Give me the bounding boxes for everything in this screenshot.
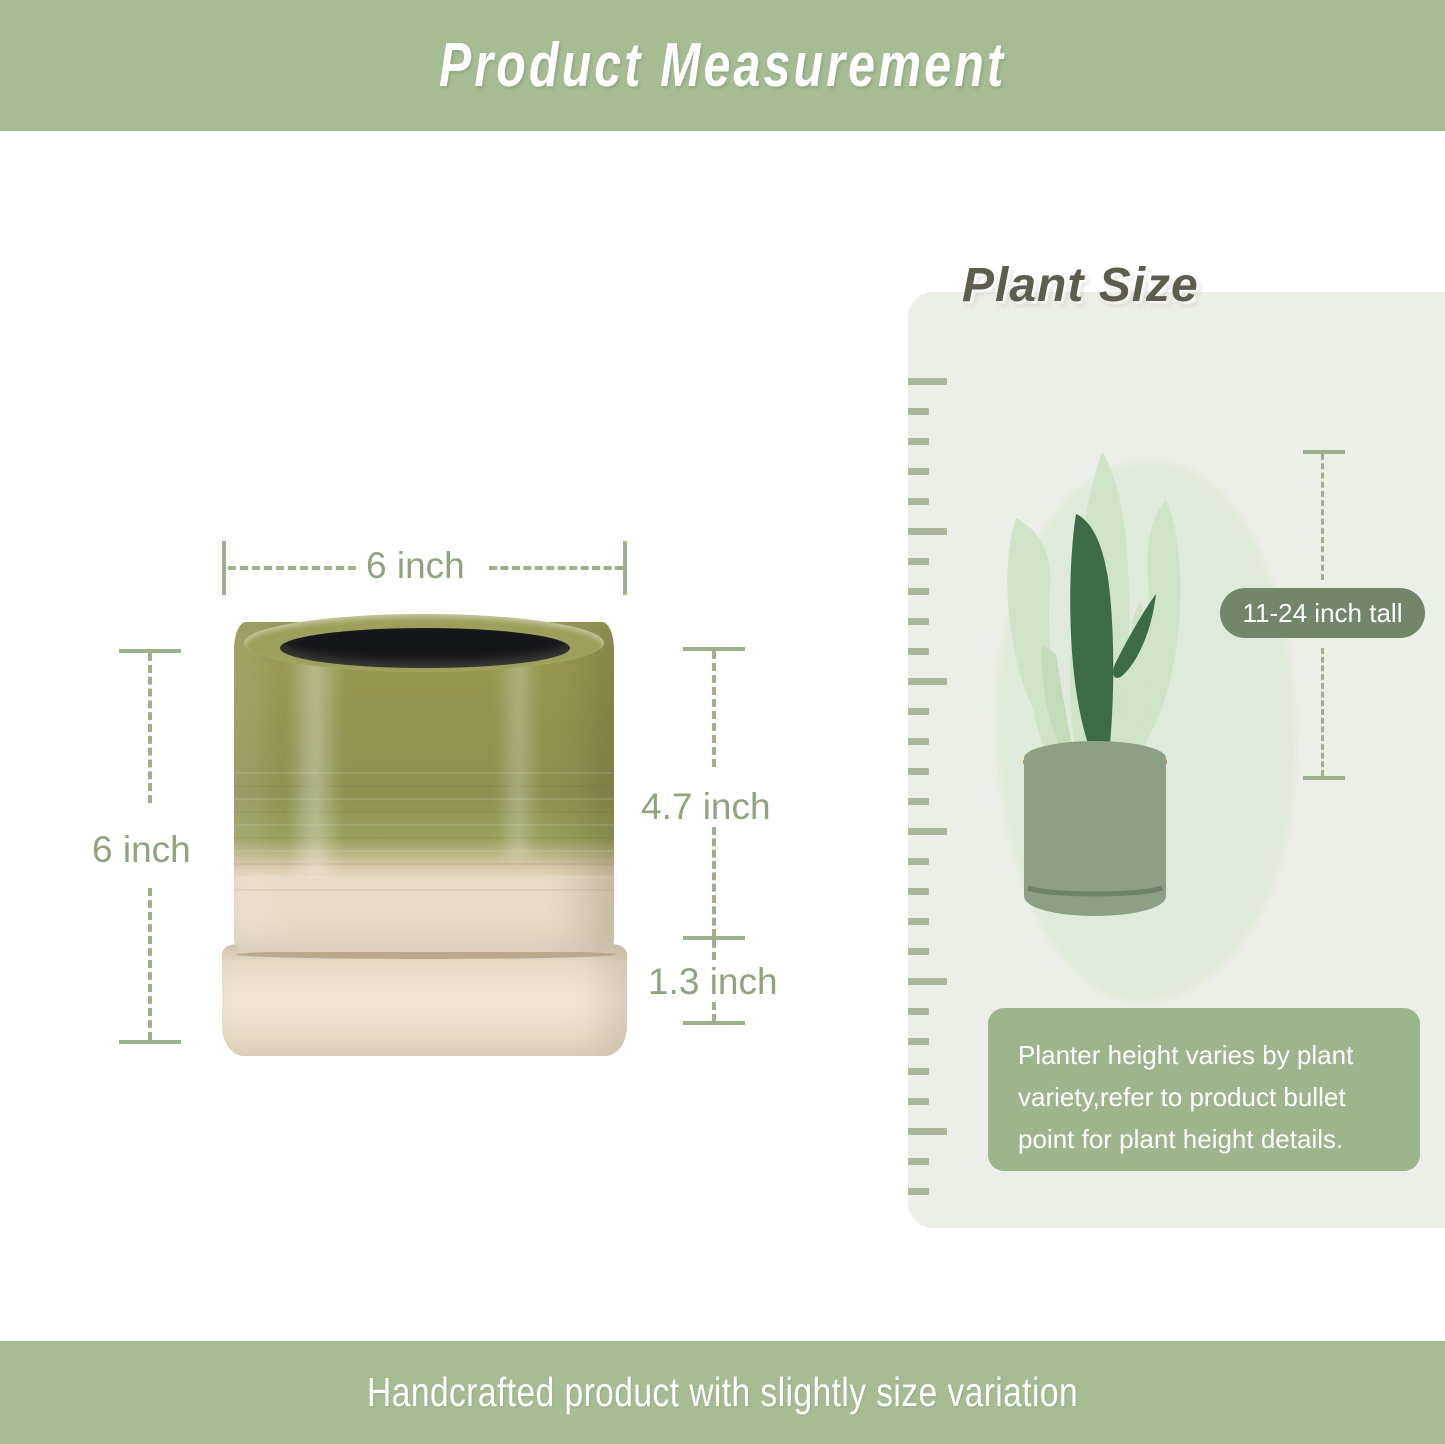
ruler-tick bbox=[908, 1188, 929, 1195]
product-photo bbox=[222, 612, 627, 1060]
ruler-tick bbox=[908, 1158, 929, 1165]
note-line-2: variety,refer to product bullet bbox=[1018, 1076, 1390, 1118]
ruler-tick bbox=[908, 498, 929, 505]
ruler-tick bbox=[908, 1098, 929, 1105]
ruler-tick bbox=[908, 558, 929, 565]
ruler-tick bbox=[908, 888, 929, 895]
dimension-saucer-height-label: 1.3 inch bbox=[648, 961, 778, 1003]
page-title: Product Measurement bbox=[439, 30, 1006, 101]
ruler-tick bbox=[908, 648, 929, 655]
ruler-tick bbox=[908, 858, 929, 865]
dimension-total-height-line-bottom bbox=[148, 888, 152, 1040]
ruler-tick bbox=[908, 1068, 929, 1075]
planter-interior bbox=[280, 628, 570, 668]
plant-height-cap-bottom bbox=[1303, 776, 1345, 780]
dimension-width-label: 6 inch bbox=[366, 545, 465, 587]
plant-size-title: Plant Size bbox=[962, 258, 1199, 313]
ruler-tick bbox=[908, 438, 929, 445]
dimension-width-line-left bbox=[228, 566, 356, 570]
dimension-saucer-height-line-bottom bbox=[712, 1002, 716, 1022]
ruler-tick bbox=[908, 978, 947, 985]
ruler-tick bbox=[908, 528, 947, 535]
dimension-pot-height-line-top bbox=[712, 651, 716, 767]
ruler-tick bbox=[908, 798, 929, 805]
ruler-tick bbox=[908, 738, 929, 745]
ruler-tick bbox=[908, 948, 929, 955]
footer-bar: Handcrafted product with slightly size v… bbox=[0, 1341, 1445, 1444]
ruler-tick bbox=[908, 378, 947, 385]
snake-plant-illustration bbox=[980, 440, 1210, 940]
plant-height-badge-label: 11-24 inch tall bbox=[1243, 598, 1403, 629]
note-line-1: Planter height varies by plant bbox=[1018, 1034, 1390, 1076]
ruler-tick bbox=[908, 678, 947, 685]
ruler-tick bbox=[908, 768, 929, 775]
dimension-width-cap-left bbox=[222, 541, 226, 595]
plant-pot-rim bbox=[1024, 741, 1166, 775]
ruler-tick bbox=[908, 468, 929, 475]
dimension-width-line-right bbox=[489, 566, 623, 570]
dimension-total-height-line-top bbox=[148, 653, 152, 803]
dimension-total-height-cap-bottom bbox=[119, 1040, 181, 1044]
note-line-3: point for plant height details. bbox=[1018, 1118, 1390, 1160]
plant-height-line-top bbox=[1321, 454, 1324, 580]
dimension-pot-height-label: 4.7 inch bbox=[641, 786, 771, 828]
ruler-tick bbox=[908, 408, 929, 415]
vertical-ruler bbox=[908, 292, 968, 1228]
dimension-total-height-label: 6 inch bbox=[92, 829, 191, 871]
ruler-tick bbox=[908, 1038, 929, 1045]
header-bar: Product Measurement bbox=[0, 0, 1445, 131]
dimension-saucer-height-line-top bbox=[712, 940, 716, 960]
plant-height-line-bottom bbox=[1321, 648, 1324, 776]
footer-note: Handcrafted product with slightly size v… bbox=[367, 1369, 1078, 1416]
ruler-tick bbox=[908, 918, 929, 925]
ruler-tick bbox=[908, 708, 929, 715]
plant-height-cap-top bbox=[1303, 450, 1345, 454]
planter-saucer bbox=[222, 944, 627, 1056]
plant-height-note-box: Planter height varies by plant variety,r… bbox=[988, 1008, 1420, 1171]
plant-height-badge: 11-24 inch tall bbox=[1220, 588, 1425, 638]
ruler-tick bbox=[908, 828, 947, 835]
ruler-tick bbox=[908, 588, 929, 595]
ruler-tick bbox=[908, 1008, 929, 1015]
ruler-tick bbox=[908, 1128, 947, 1135]
dimension-pot-height-line-bottom bbox=[712, 827, 716, 937]
ruler-tick bbox=[908, 618, 929, 625]
dimension-width-cap-right bbox=[623, 541, 627, 595]
